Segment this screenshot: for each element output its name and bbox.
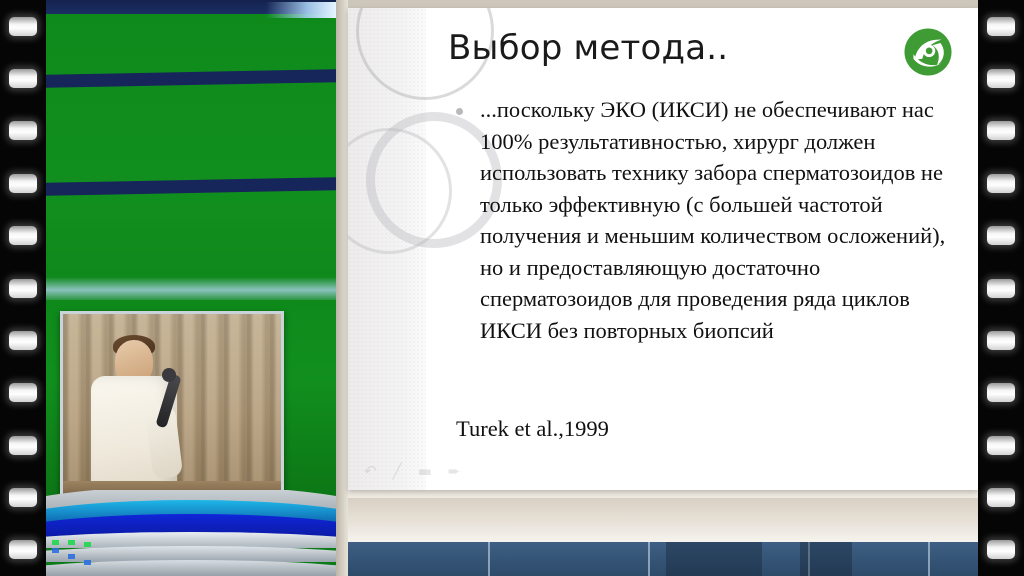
slide-surround: Выбор метода.. ...поскольку ЭКО (ИКСИ) н… bbox=[336, 0, 978, 576]
film-perforation bbox=[9, 436, 37, 455]
backdrop-glint bbox=[266, 2, 336, 18]
studio-desk bbox=[46, 490, 336, 576]
desk-led bbox=[84, 542, 91, 547]
film-perforation bbox=[9, 69, 37, 88]
slide-bullet-item: ...поскольку ЭКО (ИКСИ) не обеспечивают … bbox=[456, 94, 966, 346]
studio-video-panel bbox=[46, 0, 336, 576]
film-perforation bbox=[9, 121, 37, 140]
film-perforation bbox=[987, 279, 1015, 298]
band-seam bbox=[648, 542, 650, 576]
film-perforation bbox=[9, 17, 37, 36]
film-perforation bbox=[987, 17, 1015, 36]
film-perforation bbox=[987, 69, 1015, 88]
pen-icon[interactable]: ╱ bbox=[393, 462, 402, 480]
next-arrow-icon[interactable]: ➨ bbox=[448, 462, 461, 480]
band-shadow bbox=[666, 542, 762, 576]
film-perforation bbox=[987, 174, 1015, 193]
slide-nav-icons[interactable]: ↶ ╱ ▬ ➨ bbox=[364, 462, 460, 480]
film-strip-right bbox=[978, 0, 1024, 576]
desk-led bbox=[68, 554, 75, 559]
film-perforation bbox=[987, 383, 1015, 402]
film-perforation bbox=[9, 279, 37, 298]
film-perforation bbox=[987, 436, 1015, 455]
bullet-dot-icon bbox=[456, 108, 463, 115]
microphone-head bbox=[162, 368, 176, 382]
desk-led bbox=[84, 560, 91, 565]
highlighter-icon[interactable]: ▬ bbox=[418, 462, 432, 480]
band-shadow bbox=[800, 542, 852, 576]
undo-arrow-icon[interactable]: ↶ bbox=[364, 462, 377, 480]
slide-frame-bevel bbox=[336, 0, 348, 576]
desk-led bbox=[68, 540, 75, 545]
broadcast-slide-frame: Выбор метода.. ...поскольку ЭКО (ИКСИ) н… bbox=[0, 0, 1024, 576]
film-perforation bbox=[987, 121, 1015, 140]
slide-title: Выбор метода.. bbox=[448, 28, 728, 68]
film-perforation bbox=[9, 540, 37, 559]
film-perforation bbox=[9, 488, 37, 507]
band-seam bbox=[488, 542, 490, 576]
film-perforation bbox=[987, 488, 1015, 507]
film-perforation bbox=[9, 174, 37, 193]
desk-led bbox=[52, 540, 59, 545]
presentation-slide: Выбор метода.. ...поскольку ЭКО (ИКСИ) н… bbox=[348, 8, 978, 490]
film-perforation bbox=[987, 331, 1015, 350]
presenter-video-inset bbox=[60, 311, 284, 498]
film-perforation bbox=[9, 226, 37, 245]
film-perforation bbox=[9, 383, 37, 402]
green-circular-aperture-logo-icon bbox=[900, 24, 956, 80]
bottom-blue-band bbox=[348, 542, 978, 576]
slide-lower-surround bbox=[348, 498, 978, 542]
desk-led bbox=[52, 548, 59, 553]
film-perforation bbox=[9, 331, 37, 350]
band-seam bbox=[928, 542, 930, 576]
film-perforation bbox=[987, 540, 1015, 559]
film-perforation bbox=[987, 226, 1015, 245]
slide-citation: Turek et al.,1999 bbox=[456, 416, 609, 442]
slide-bullet-text: ...поскольку ЭКО (ИКСИ) не обеспечивают … bbox=[480, 94, 966, 346]
film-strip-left bbox=[0, 0, 46, 576]
